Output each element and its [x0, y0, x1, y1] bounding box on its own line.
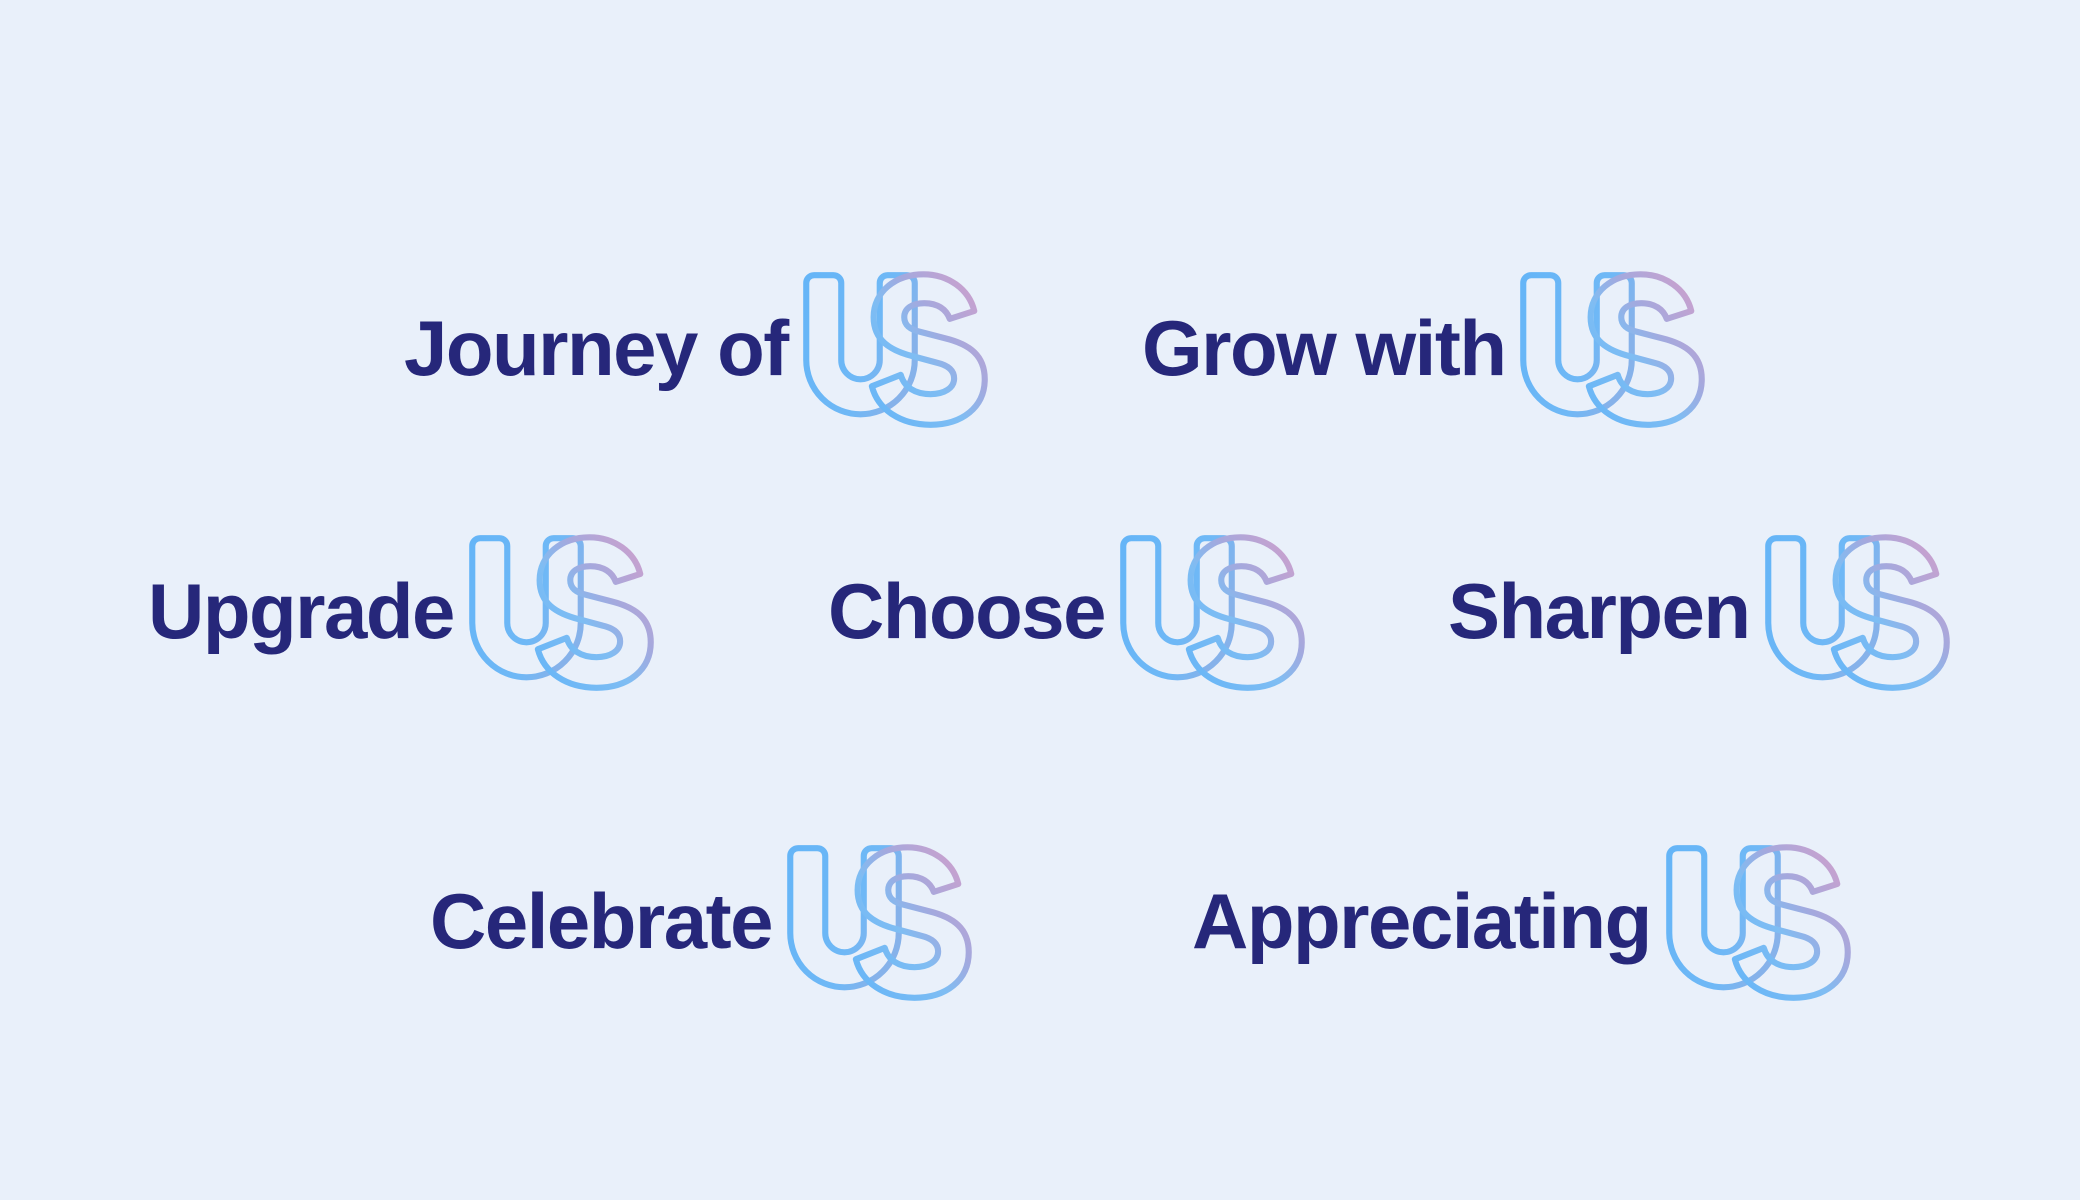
us-monogram-icon	[778, 835, 988, 1010]
us-monogram-icon	[1111, 525, 1321, 700]
lockup-label: Celebrate	[430, 882, 772, 964]
lockup-label: Journey of	[404, 309, 788, 391]
lockup-label: Grow with	[1142, 309, 1505, 391]
lockup-journey-of-us[interactable]: Journey of	[404, 262, 1004, 437]
lockup-label: Appreciating	[1192, 882, 1651, 964]
us-monogram-icon	[1756, 525, 1966, 700]
lockup-choose-us[interactable]: Choose	[828, 525, 1321, 700]
lockup-label: Upgrade	[148, 572, 454, 654]
lockup-celebrate-us[interactable]: Celebrate	[430, 835, 988, 1010]
lockup-label: Choose	[828, 572, 1105, 654]
us-monogram-icon	[460, 525, 670, 700]
lockup-label: Sharpen	[1448, 572, 1750, 654]
lockup-grow-with-us[interactable]: Grow with	[1142, 262, 1721, 437]
lockup-sharpen-us[interactable]: Sharpen	[1448, 525, 1966, 700]
lockup-upgrade-us[interactable]: Upgrade	[148, 525, 670, 700]
lockup-appreciating-us[interactable]: Appreciating	[1192, 835, 1867, 1010]
us-monogram-icon	[1657, 835, 1867, 1010]
us-monogram-icon	[794, 262, 1004, 437]
us-monogram-icon	[1511, 262, 1721, 437]
brand-lockup-sheet: Journey of	[0, 0, 2080, 1200]
